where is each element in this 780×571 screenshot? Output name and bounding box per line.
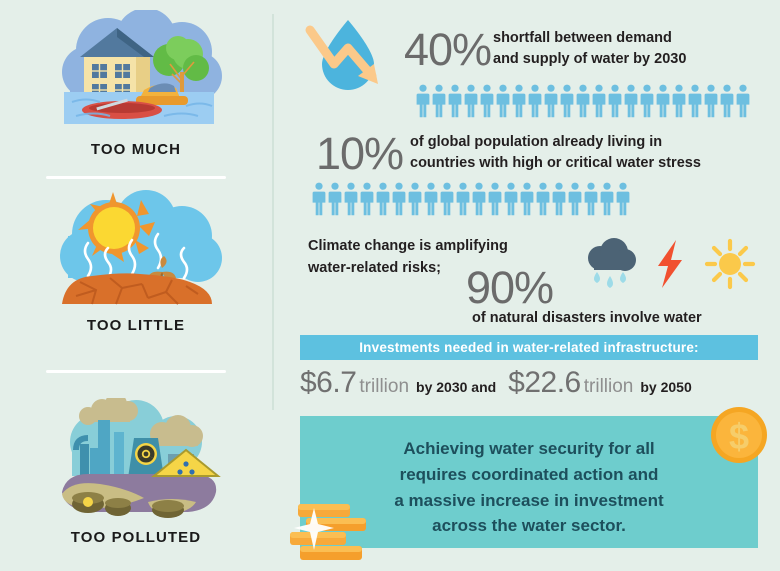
stat-shortfall: 40% shortfall between demand and supply … — [300, 12, 770, 92]
people-pictogram-row-2 — [312, 182, 630, 221]
person-icon — [528, 84, 542, 123]
person-icon — [656, 84, 670, 123]
person-icon — [624, 84, 638, 123]
climate-line-1: Climate change is amplifying — [308, 236, 538, 258]
people-pictogram-row-1 — [416, 84, 750, 123]
rain-cloud-icon — [582, 238, 636, 295]
stat-climate: Climate change is amplifying water-relat… — [308, 230, 778, 322]
shortfall-line-1: shortfall between demand — [493, 28, 778, 49]
person-icon — [328, 182, 342, 221]
population-line-1: of global population already living in — [410, 132, 770, 153]
person-icon — [472, 182, 486, 221]
stat-number-10: 10% — [316, 128, 403, 180]
person-icon — [392, 182, 406, 221]
panel-too-little: TOO LITTLE — [0, 186, 272, 334]
stat-number-40: 40% — [404, 24, 491, 76]
climate-text-after: of natural disasters involve water — [472, 310, 702, 326]
when-1: by 2030 and — [416, 379, 496, 395]
unit-1: trillion — [359, 376, 409, 398]
left-illustration-column: TOO MUCH — [0, 0, 272, 571]
conclusion-line-4: across the water sector. — [334, 513, 724, 539]
stat-number-90: 90% — [466, 262, 553, 314]
person-icon — [504, 182, 518, 221]
svg-text:$: $ — [729, 416, 749, 457]
flooded-house-icon — [36, 10, 236, 135]
panel-too-much: TOO MUCH — [0, 10, 272, 158]
person-icon — [552, 182, 566, 221]
person-icon — [736, 84, 750, 123]
person-icon — [416, 84, 430, 123]
person-icon — [432, 84, 446, 123]
person-icon — [688, 84, 702, 123]
person-icon — [520, 182, 534, 221]
conclusion-line-3: a massive increase in investment — [334, 488, 724, 514]
person-icon — [312, 182, 326, 221]
conclusion-line-1: Achieving water security for all — [334, 436, 724, 462]
person-icon — [608, 84, 622, 123]
person-icon — [440, 182, 454, 221]
person-icon — [616, 182, 630, 221]
amount-1: $6.7 — [300, 366, 356, 400]
person-icon — [424, 182, 438, 221]
person-icon — [408, 182, 422, 221]
investment-bar-label: Investments needed in water-related infr… — [300, 335, 758, 360]
person-icon — [704, 84, 718, 123]
polluted-factory-icon — [36, 398, 236, 523]
stat-text-shortfall: shortfall between demand and supply of w… — [493, 28, 778, 69]
weather-icons-group — [582, 238, 756, 295]
person-icon — [360, 182, 374, 221]
person-icon — [640, 84, 654, 123]
stat-text-population: of global population already living in c… — [410, 132, 770, 173]
sun-icon — [704, 238, 756, 295]
conclusion-line-2: requires coordinated action and — [334, 462, 724, 488]
person-icon — [568, 182, 582, 221]
person-icon — [544, 84, 558, 123]
panel-too-polluted: TOO POLLUTED — [0, 398, 272, 546]
person-icon — [672, 84, 686, 123]
infographic-root: TOO MUCH — [0, 0, 780, 571]
person-icon — [600, 182, 614, 221]
person-icon — [576, 84, 590, 123]
lightning-bolt-icon — [654, 238, 686, 295]
person-icon — [480, 84, 494, 123]
person-icon — [560, 84, 574, 123]
person-icon — [344, 182, 358, 221]
person-icon — [592, 84, 606, 123]
person-icon — [536, 182, 550, 221]
when-2: by 2050 — [640, 379, 691, 395]
panel-label-too-much: TOO MUCH — [0, 141, 272, 158]
person-icon — [456, 182, 470, 221]
investment-amounts: $6.7 trillion by 2030 and $22.6 trillion… — [300, 366, 770, 402]
conclusion-box: Achieving water security for all require… — [300, 416, 758, 548]
panel-label-too-polluted: TOO POLLUTED — [0, 529, 272, 546]
person-icon — [584, 182, 598, 221]
person-icon — [464, 84, 478, 123]
person-icon — [720, 84, 734, 123]
person-icon — [496, 84, 510, 123]
drought-sun-icon — [36, 186, 236, 311]
person-icon — [376, 182, 390, 221]
water-drop-declining-arrow-icon — [300, 14, 396, 92]
person-icon — [488, 182, 502, 221]
person-icon — [448, 84, 462, 123]
amount-2: $22.6 — [508, 366, 581, 400]
coin-stack-icon — [284, 502, 382, 564]
panel-label-too-little: TOO LITTLE — [0, 317, 272, 334]
divider-2 — [46, 370, 226, 373]
divider-1 — [46, 176, 226, 179]
unit-2: trillion — [584, 376, 634, 398]
right-stats-column: 40% shortfall between demand and supply … — [286, 0, 780, 571]
vertical-divider — [272, 14, 274, 410]
population-line-2: countries with high or critical water st… — [410, 153, 770, 174]
shortfall-line-2: and supply of water by 2030 — [493, 49, 778, 70]
person-icon — [512, 84, 526, 123]
dollar-coin-icon: $ — [710, 406, 768, 464]
